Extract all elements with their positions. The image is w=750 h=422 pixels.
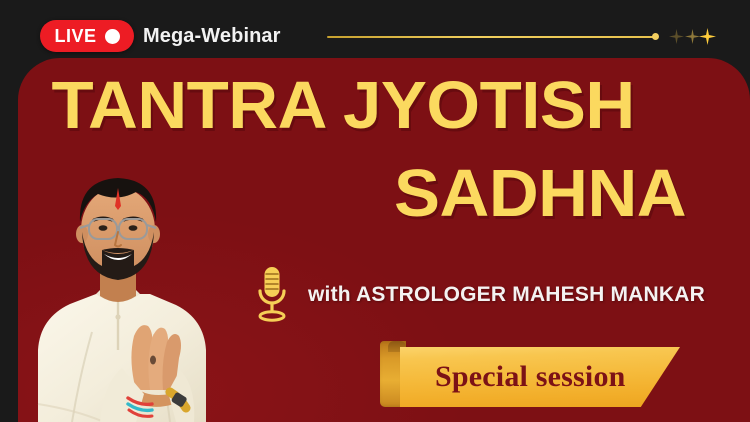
sparkle-icon-dim xyxy=(669,29,684,44)
live-badge[interactable]: LIVE xyxy=(40,20,134,52)
presenter-name: with ASTROLOGER MAHESH MANKAR xyxy=(308,283,705,307)
live-indicator-dot xyxy=(105,29,120,44)
top-bar: LIVE Mega-Webinar xyxy=(0,0,750,60)
ribbon-label: Special session xyxy=(400,347,680,407)
left-dark-strip xyxy=(0,0,18,422)
webinar-label: Mega-Webinar xyxy=(143,21,281,51)
sparkle-icon-bright xyxy=(699,28,716,45)
gold-divider-cap xyxy=(652,33,659,40)
sparkle-icon-mid xyxy=(685,29,700,44)
gold-divider-line xyxy=(327,36,657,38)
presenter-row: with ASTROLOGER MAHESH MANKAR xyxy=(252,264,705,326)
special-session-ribbon: Special session xyxy=(380,341,680,407)
microphone-icon xyxy=(252,265,292,325)
presenter-photo xyxy=(18,154,228,422)
live-badge-label: LIVE xyxy=(54,27,96,45)
webinar-promo-poster: LIVE Mega-Webinar TANTRA JYOTISH SADHNA xyxy=(0,0,750,422)
